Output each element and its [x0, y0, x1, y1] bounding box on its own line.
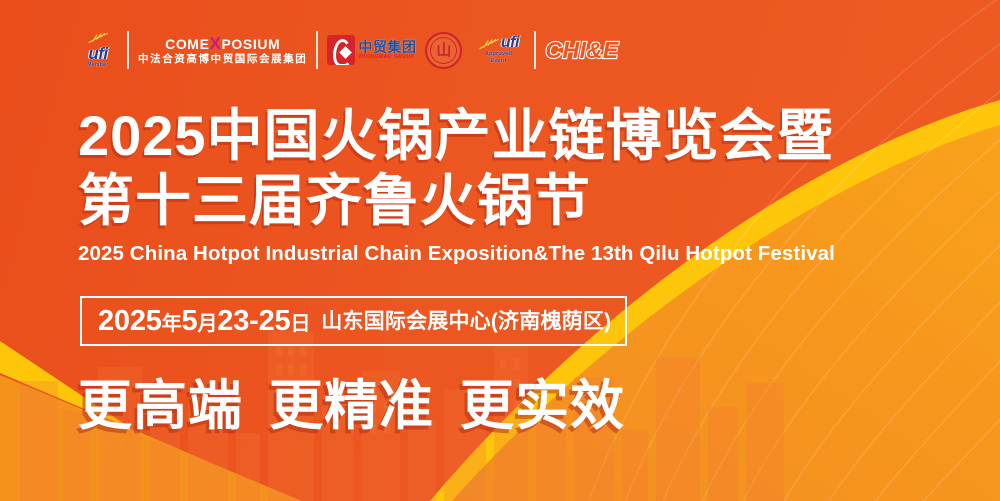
slogan-item-1: 更高端	[78, 378, 243, 435]
event-venue: 山东国际会展中心(济南槐荫区)	[321, 311, 611, 332]
title-line-2: 第十三届齐鲁火锅节	[78, 169, 918, 234]
wheat-icon	[87, 31, 109, 45]
logo-ufi2-subtitle-2: Event	[490, 58, 506, 65]
logo-ufi2-subtitle-1: Approved	[485, 51, 512, 58]
zhongmao-mark-icon	[327, 35, 355, 65]
subtitle-english: 2025 China Hotpot Industrial Chain Expos…	[78, 243, 918, 266]
logo-ufi-approved-event[interactable]: ufi Approved Event	[471, 35, 525, 66]
logo-divider	[316, 31, 318, 69]
logo-ufi-member[interactable]: ufi Member	[78, 31, 118, 69]
date-year-unit: 年	[162, 313, 182, 335]
chie-left: CHI	[545, 37, 586, 63]
slogan-item-2: 更精准	[269, 378, 434, 435]
logo-zhongmao-english: ZHONGMAO GROUP	[358, 54, 416, 60]
comex-right: POSIUM	[221, 36, 280, 52]
date-day-unit: 日	[290, 313, 310, 335]
logo-divider	[534, 31, 536, 69]
date-month-unit: 月	[197, 313, 217, 335]
comex-x: X	[210, 34, 222, 53]
ufi-approved-row: ufi	[478, 35, 519, 51]
logo-comexposium[interactable]: COMEXPOSIUM 中法合资高博中贸国际会展集团	[138, 35, 307, 65]
logo-comexposium-chinese: 中法合资高博中贸国际会展集团	[138, 54, 307, 65]
logo-divider	[127, 31, 129, 69]
slogan-item-3: 更实效	[460, 378, 625, 435]
logo-ufi-wordmark: ufi	[88, 45, 107, 62]
headline-block: 2025中国火锅产业链博览会暨 第十三届齐鲁火锅节 2025 China Hot…	[78, 104, 918, 265]
wheat-icon	[478, 37, 500, 51]
logo-ufi-subtitle: Member	[87, 62, 109, 69]
date-year: 2025	[98, 305, 162, 337]
date-days: 23-25	[217, 305, 290, 337]
logo-ufi2-wordmark: ufi	[501, 35, 519, 51]
partner-logo-strip: ufi Member COMEXPOSIUM 中法合资高博中贸国际会展集团 中贸…	[78, 24, 619, 76]
event-date: 2025年5月23-25日	[98, 307, 310, 336]
chie-ampersand: &	[587, 40, 603, 62]
logo-zhongmao-group[interactable]: 中贸集团 ZHONGMAO GROUP	[327, 35, 416, 65]
exhibition-banner: ufi Member COMEXPOSIUM 中法合资高博中贸国际会展集团 中贸…	[0, 0, 1000, 501]
date-month: 5	[182, 305, 198, 337]
logo-chie[interactable]: CHI&E	[545, 39, 618, 62]
comex-left: COME	[165, 36, 209, 52]
logo-shandong-seal[interactable]: 山	[425, 32, 462, 69]
title-line-1: 2025中国火锅产业链博览会暨	[78, 104, 918, 169]
chie-right: E	[603, 37, 619, 63]
logo-comexposium-wordmark: COMEXPOSIUM	[165, 35, 280, 52]
seal-glyph: 山	[427, 34, 460, 67]
zhongmao-text: 中贸集团 ZHONGMAO GROUP	[358, 40, 416, 61]
logo-zhongmao-chinese: 中贸集团	[358, 40, 416, 55]
slogan-block: 更高端 更精准 更实效	[78, 378, 625, 435]
date-venue-box: 2025年5月23-25日 山东国际会展中心(济南槐荫区)	[80, 296, 627, 346]
